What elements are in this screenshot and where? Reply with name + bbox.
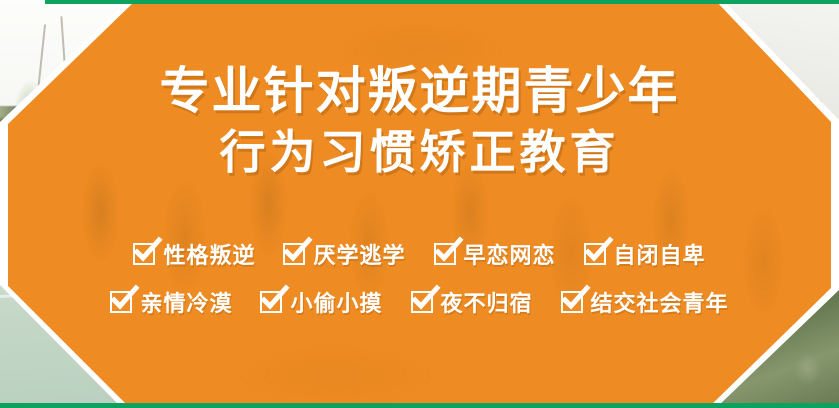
tag-item: 亲情冷漠	[110, 286, 232, 318]
tag-label: 早恋网恋	[464, 238, 556, 270]
tag-label: 厌学逃学	[313, 238, 405, 270]
tag-label: 自闭自卑	[614, 238, 706, 270]
checkbox-checked-icon	[411, 291, 433, 313]
checkbox-checked-icon	[283, 243, 305, 265]
tag-label: 亲情冷漠	[140, 286, 232, 318]
tag-item: 夜不归宿	[411, 286, 533, 318]
tag-item: 结交社会青年	[561, 286, 729, 318]
tag-label: 结交社会青年	[591, 286, 729, 318]
checkbox-checked-icon	[133, 243, 155, 265]
tag-row: 亲情冷漠 小偷小摸 夜不归宿	[0, 286, 839, 318]
checkbox-checked-icon	[584, 243, 606, 265]
checkbox-checked-icon	[434, 243, 456, 265]
tag-item: 早恋网恋	[434, 238, 556, 270]
tag-label: 小偷小摸	[290, 286, 382, 318]
tag-item: 自闭自卑	[584, 238, 706, 270]
checkbox-checked-icon	[561, 291, 583, 313]
headline-line-2: 行为习惯矫正教育	[0, 126, 839, 178]
checkbox-checked-icon	[110, 291, 132, 313]
tag-item: 性格叛逆	[133, 238, 255, 270]
banner-content: 专业针对叛逆期青少年 行为习惯矫正教育 性格叛逆 厌学逃学	[0, 0, 839, 408]
tag-row: 性格叛逆 厌学逃学 早恋网恋	[0, 238, 839, 270]
checkbox-checked-icon	[260, 291, 282, 313]
promo-banner: 专业针对叛逆期青少年 行为习惯矫正教育 性格叛逆 厌学逃学	[0, 0, 839, 408]
tag-list: 性格叛逆 厌学逃学 早恋网恋	[0, 238, 839, 334]
tag-item: 厌学逃学	[283, 238, 405, 270]
tag-item: 小偷小摸	[260, 286, 382, 318]
tag-label: 夜不归宿	[441, 286, 533, 318]
tag-label: 性格叛逆	[163, 238, 255, 270]
headline-line-1: 专业针对叛逆期青少年	[0, 64, 839, 118]
headline: 专业针对叛逆期青少年 行为习惯矫正教育	[0, 64, 839, 178]
